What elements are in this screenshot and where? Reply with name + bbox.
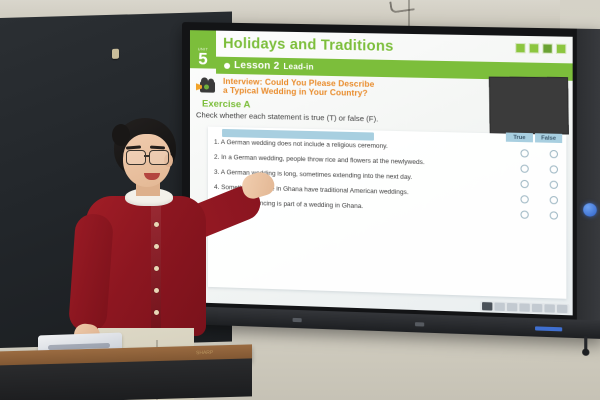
- bullet-icon: [224, 62, 230, 68]
- answer-options: [520, 161, 562, 173]
- lesson-label: Lesson 2: [234, 60, 279, 72]
- blackboard-clip: [112, 49, 119, 59]
- unit-number: 5: [198, 51, 207, 66]
- answer-options: [520, 207, 562, 219]
- radio-false[interactable]: [550, 165, 558, 173]
- radio-false[interactable]: [550, 196, 558, 204]
- lesson-subtitle: Lead-in: [283, 62, 313, 72]
- desk-front-panel: [0, 358, 252, 400]
- desk-brand-label: SHARP: [196, 350, 213, 356]
- progress-square: [556, 44, 566, 54]
- cardigan-button: [154, 222, 159, 227]
- progress-square: [542, 43, 552, 53]
- column-header-true: True: [506, 133, 533, 143]
- exercise-label: Exercise A: [202, 98, 250, 110]
- classroom-scene: UNIT 5 Holidays and Traditions Lesson 2 …: [0, 0, 600, 400]
- unit-word: UNIT: [198, 46, 209, 51]
- pen-icon[interactable]: [494, 303, 504, 312]
- board-bezel-right: [577, 29, 600, 339]
- menu-icon[interactable]: [482, 302, 492, 311]
- eyeglasses: [125, 150, 170, 164]
- table-header: True False: [506, 133, 562, 144]
- radio-true[interactable]: [520, 165, 528, 173]
- interview-heading: Interview: Could You Please Describe a T…: [196, 76, 477, 101]
- cardigan-button: [154, 266, 159, 271]
- movie-camera-icon: [196, 77, 218, 94]
- radio-false[interactable]: [550, 181, 558, 189]
- radio-true[interactable]: [520, 149, 528, 157]
- radio-true[interactable]: [520, 195, 528, 203]
- answer-options: [520, 146, 562, 158]
- board-button[interactable]: [415, 322, 424, 326]
- radio-false[interactable]: [550, 211, 558, 219]
- slide-toolbar[interactable]: [480, 301, 570, 314]
- board-status-led: [535, 326, 562, 331]
- shapes-icon[interactable]: [519, 303, 529, 312]
- board-cable: [584, 336, 587, 353]
- statement-table: True False 1. A German wedding does not …: [208, 127, 566, 299]
- cardigan-button: [154, 310, 159, 315]
- progress-square: [515, 43, 525, 53]
- unit-badge: UNIT 5: [190, 30, 216, 69]
- interview-text: Interview: Could You Please Describe a T…: [223, 77, 374, 99]
- eraser-icon[interactable]: [507, 303, 517, 312]
- power-indicator[interactable]: [583, 203, 597, 217]
- settings-icon[interactable]: [557, 305, 567, 314]
- answer-options: [520, 192, 562, 204]
- undo-icon[interactable]: [532, 304, 542, 313]
- statement-rows: 1. A German wedding does not include a r…: [208, 138, 566, 299]
- cardigan-placket: [151, 206, 161, 346]
- progress-squares: [515, 43, 566, 54]
- redo-icon[interactable]: [544, 304, 554, 313]
- board-button[interactable]: [293, 318, 302, 322]
- interview-line-2: a Typical Wedding in Your Country?: [223, 86, 368, 98]
- teacher-hair-front: [112, 124, 130, 146]
- cardigan-button: [154, 244, 159, 249]
- radio-false[interactable]: [550, 150, 558, 158]
- page-title: Holidays and Traditions: [216, 36, 394, 55]
- column-header-false: False: [535, 133, 562, 143]
- radio-true[interactable]: [520, 210, 528, 218]
- cardigan-button: [154, 288, 159, 293]
- progress-square: [529, 43, 539, 53]
- radio-true[interactable]: [520, 180, 528, 188]
- answer-options: [520, 177, 562, 189]
- video-thumbnail[interactable]: [489, 77, 569, 135]
